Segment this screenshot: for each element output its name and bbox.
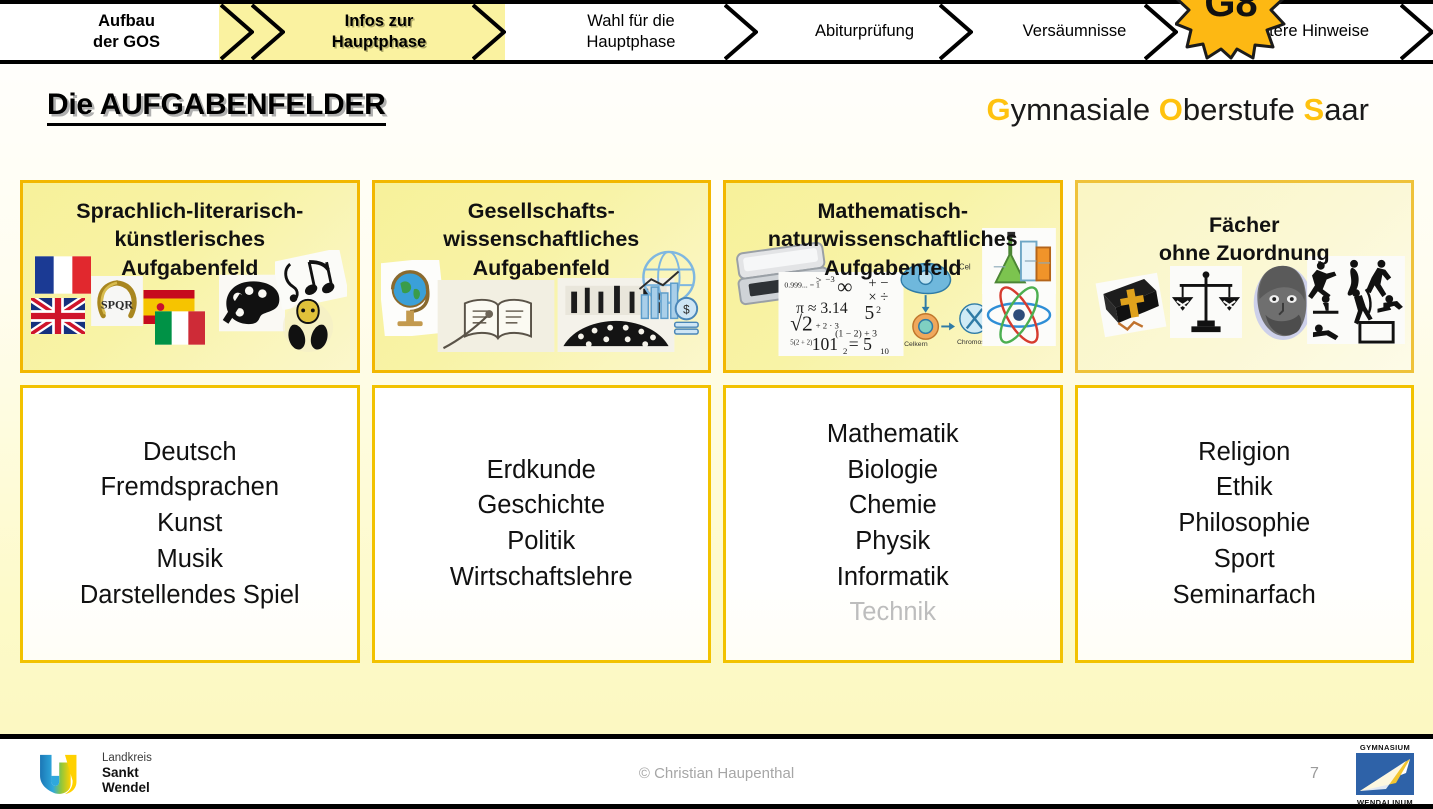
headbox-aufgabenfeld-3: Mathematisch- naturwissenschaftliches Au… — [723, 180, 1063, 373]
subject-item: Chemie — [849, 488, 937, 524]
brand-letter-g: G — [986, 92, 1010, 127]
svg-text:= 5: = 5 — [849, 334, 872, 354]
subject-list-aufgabenfeld-4: Religion Ethik Philosophie Sport Seminar… — [1075, 385, 1415, 663]
chevron-right-icon — [1400, 4, 1433, 60]
svg-text:5(2 + 2): 5(2 + 2) — [790, 339, 812, 346]
subject-item: Seminarfach — [1173, 578, 1316, 614]
headbox-title: Gesellschafts- wissenschaftliches Aufgab… — [375, 183, 709, 282]
headbox-aufgabenfeld-2: Gesellschafts- wissenschaftliches Aufgab… — [372, 180, 712, 373]
subject-item: Biologie — [847, 453, 938, 489]
nav-tab-label: Versäumnisse — [1015, 21, 1135, 42]
subject-item: Kunst — [157, 506, 222, 542]
subject-item: Erdkunde — [487, 453, 596, 489]
sports-silhouettes-icon — [1307, 256, 1405, 344]
nav-tab-label: Abiturprüfung — [807, 21, 922, 42]
aufgabenfelder-grid: Sprachlich-literarisch- künstlerisches A… — [20, 180, 1414, 663]
chevron-right-icon — [724, 4, 758, 60]
svg-text:2: 2 — [876, 305, 881, 316]
footer-bar: Landkreis Sankt Wendel © Christian Haupe… — [0, 734, 1433, 809]
subject-item: Geschichte — [477, 488, 605, 524]
subject-item: Mathematik — [827, 417, 959, 453]
landkreis-line1: Landkreis — [102, 752, 152, 765]
nav-tab-label: Wahl für die Hauptphase — [579, 11, 684, 53]
page-title: Die AUFGABENFELDER — [47, 88, 386, 126]
chevron-fill-left — [219, 4, 253, 60]
school-logo-top-caption: GYMNASIUM — [1352, 743, 1418, 752]
gymnasium-wendalinum-logo: GYMNASIUM WENDALINUM — [1352, 743, 1418, 805]
subject-item: Religion — [1198, 435, 1290, 471]
subject-item-technik: Technik — [850, 595, 936, 631]
math-formulas-icon: 0.999... = 1 > −3 ∞ + − × ÷ π ≈ 3.14 √2 … — [778, 272, 904, 356]
subject-item: Ethik — [1216, 470, 1273, 506]
slide: Aufbau der GOS Infos zur Hauptphase — [0, 0, 1433, 809]
page-number: 7 — [1310, 765, 1319, 783]
headbox-aufgabenfeld-4: Fächer ohne Zuordnung — [1075, 180, 1415, 373]
subject-item: Informatik — [837, 560, 949, 596]
column-faecher-ohne-zuordnung: Fächer ohne Zuordnung — [1075, 180, 1415, 663]
nav-tab-infos-zur-hauptphase[interactable]: Infos zur Hauptphase — [253, 4, 505, 60]
subject-item: Physik — [855, 524, 930, 560]
headbox-title: Sprachlich-literarisch- künstlerisches A… — [23, 183, 357, 282]
nav-tab-wahl-fuer-die-hauptphase[interactable]: Wahl für die Hauptphase — [505, 4, 757, 60]
flag-italy-icon — [155, 310, 205, 346]
headbox-aufgabenfeld-1: Sprachlich-literarisch- künstlerisches A… — [20, 180, 360, 373]
column-gesellschaftswissenschaftlich: Gesellschafts- wissenschaftliches Aufgab… — [372, 180, 712, 663]
subject-item: Sport — [1214, 542, 1275, 578]
subject-list-aufgabenfeld-1: Deutsch Fremdsprachen Kunst Musik Darste… — [20, 385, 360, 663]
nav-tab-versaeumnisse[interactable]: Versäumnisse — [972, 4, 1177, 60]
subject-list-aufgabenfeld-2: Erdkunde Geschichte Politik Wirtschaftsl… — [372, 385, 712, 663]
open-book-quill-icon — [437, 280, 555, 352]
chevron-right-icon — [939, 4, 973, 60]
headbox-title: Fächer ohne Zuordnung — [1078, 183, 1412, 268]
svg-text:SPQR: SPQR — [101, 298, 133, 312]
subject-item: Fremdsprachen — [100, 470, 279, 506]
justice-scales-icon — [1170, 266, 1242, 338]
brand-letter-s: S — [1304, 92, 1325, 127]
brand-letter-o: O — [1159, 92, 1183, 127]
chevron-right-icon — [472, 4, 506, 60]
landkreis-line3: Wendel — [102, 780, 152, 795]
theater-masks-icon — [279, 294, 337, 352]
brand-text-ymnasiale: ymnasiale — [1011, 92, 1159, 127]
subject-item: Deutsch — [143, 435, 237, 471]
g8-badge-label: G8 — [1175, 0, 1287, 60]
chevron-notch-icon — [251, 4, 285, 60]
svg-text:Celkern: Celkern — [904, 341, 928, 348]
subject-item: Politik — [507, 524, 575, 560]
atom-icon — [982, 284, 1056, 346]
svg-text:$: $ — [683, 304, 690, 317]
brand-gymnasiale-oberstufe-saar: Gymnasiale Oberstufe Saar — [986, 92, 1369, 128]
school-logo-bottom-caption: WENDALINUM — [1352, 798, 1418, 807]
subject-item: Darstellendes Spiel — [80, 578, 300, 614]
subject-item: Musik — [156, 542, 223, 578]
column-sprachlich-literarisch-kuenstlerisch: Sprachlich-literarisch- künstlerisches A… — [20, 180, 360, 663]
icon-cluster-other-subjects — [1078, 250, 1412, 370]
g8-badge: G8 — [1175, 0, 1287, 60]
copyright-text: © Christian Haupenthal — [0, 765, 1433, 782]
subject-item: Philosophie — [1178, 506, 1310, 542]
subject-list-aufgabenfeld-3: Mathematik Biologie Chemie Physik Inform… — [723, 385, 1063, 663]
column-mathematisch-naturwissenschaftlich: Mathematisch- naturwissenschaftliches Au… — [723, 180, 1063, 663]
bible-cross-icon — [1092, 268, 1170, 342]
brand-text-berstufe: berstufe — [1183, 92, 1304, 127]
brand-text-aar: aar — [1324, 92, 1369, 127]
flag-uk-icon — [31, 298, 85, 334]
nav-tab-label: Aufbau der GOS — [85, 11, 168, 53]
svg-text:√2: √2 — [790, 312, 813, 336]
subject-item: Wirtschaftslehre — [450, 560, 633, 596]
svg-text:101: 101 — [812, 334, 838, 354]
nav-tab-aufbau-der-gos[interactable]: Aufbau der GOS — [0, 4, 253, 60]
nav-tab-abiturpruefung[interactable]: Abiturprüfung — [757, 4, 972, 60]
chevron-right-icon — [1144, 4, 1178, 60]
nav-tab-label: Infos zur Hauptphase — [324, 11, 434, 53]
svg-text:5: 5 — [864, 303, 874, 324]
svg-text:2: 2 — [843, 346, 847, 356]
headbox-title: Mathematisch- naturwissenschaftliches Au… — [726, 183, 1060, 282]
school-logo-mark-icon — [1356, 753, 1414, 795]
spqr-emblem-icon: SPQR — [91, 276, 143, 326]
